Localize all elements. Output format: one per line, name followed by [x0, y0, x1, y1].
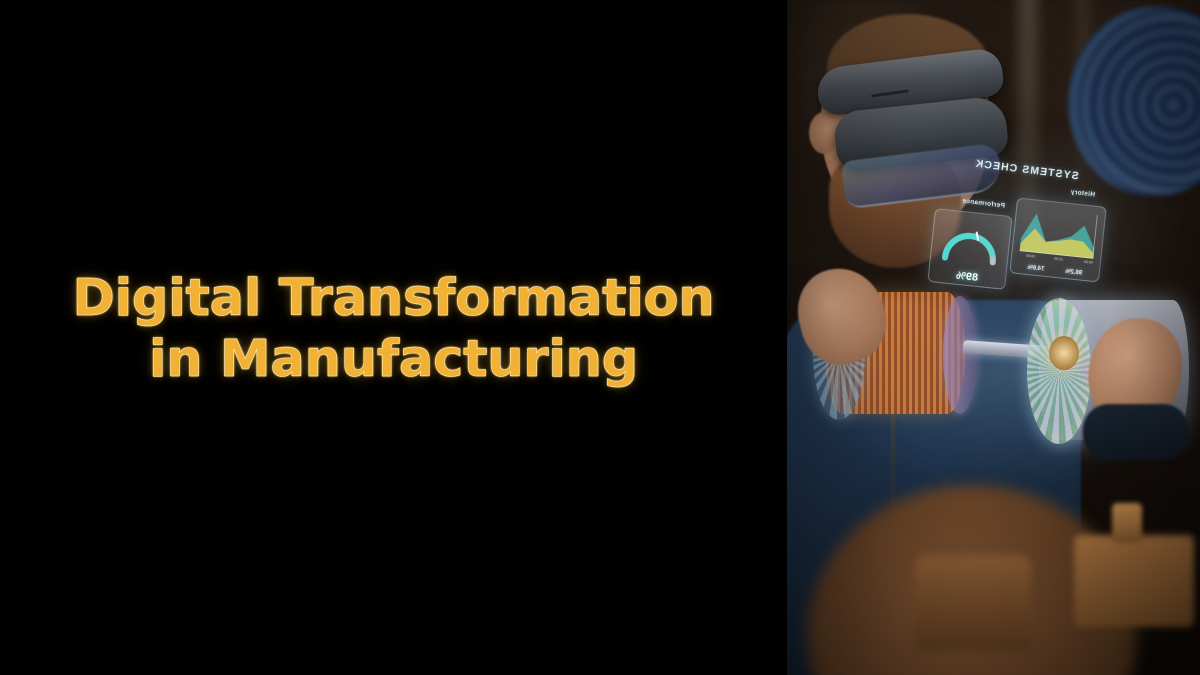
title-panel: Digital Transformation in Manufacturing [0, 0, 787, 675]
photo-panel: SYSTEMS CHECK History Performance 00:00 … [787, 0, 1200, 675]
motor-stator-hub [1049, 336, 1079, 370]
page-title: Digital Transformation in Manufacturing [64, 269, 724, 389]
slide-root: Digital Transformation in Manufacturing [0, 0, 1200, 675]
title-line-2: in Manufacturing [64, 330, 724, 390]
foreground-bolt [1112, 503, 1142, 543]
motor-rotor-ring [943, 296, 977, 414]
title-line-1: Digital Transformation [64, 269, 724, 329]
background-beam [1018, 0, 1038, 297]
worker-sleeve-cuff [1083, 404, 1189, 460]
foreground-mounting-block [1074, 535, 1194, 627]
foreground-cap [915, 555, 1031, 651]
